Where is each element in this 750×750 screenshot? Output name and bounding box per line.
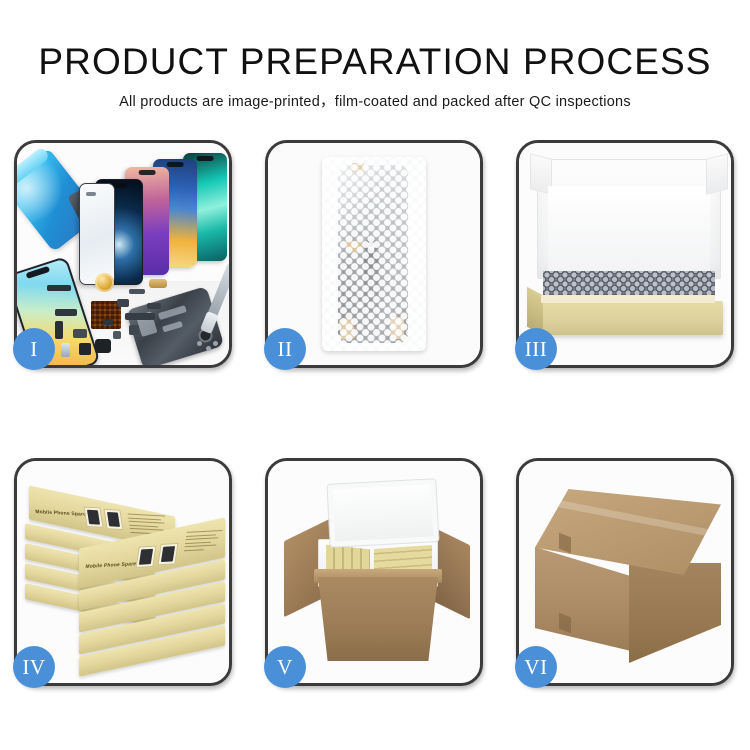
spare-part	[95, 339, 111, 353]
label-phone-image	[84, 507, 104, 528]
bubble-wrap-texture	[322, 157, 426, 351]
spare-part	[125, 313, 155, 320]
film-curl	[17, 146, 51, 190]
spare-part	[79, 343, 91, 355]
spare-part	[129, 289, 145, 294]
step-2-badge: II	[264, 328, 306, 370]
screws-group	[197, 341, 219, 355]
gold-coil-part	[95, 273, 114, 292]
spare-part	[73, 329, 87, 338]
step-6-badge: VI	[515, 646, 557, 688]
spare-part	[147, 303, 161, 309]
tempered-glass-protector	[79, 183, 115, 285]
housing-detail	[158, 305, 187, 320]
foam-lid	[326, 478, 439, 548]
page-title: PRODUCT PREPARATION PROCESS	[0, 0, 750, 82]
carton-face-left	[535, 547, 631, 651]
label-phone-image	[157, 543, 178, 565]
page-subtitle: All products are image-printed，film-coat…	[0, 82, 750, 111]
product-preparation-infographic: PRODUCT PREPARATION PROCESS All products…	[0, 0, 750, 750]
carton-body	[318, 577, 438, 661]
notch-icon	[26, 266, 51, 279]
spare-part	[113, 331, 121, 339]
step-5-badge: V	[264, 646, 306, 688]
spare-part	[61, 343, 70, 357]
spare-part	[129, 325, 139, 335]
step-3-badge: III	[515, 328, 557, 370]
tray-inner-edge	[541, 295, 715, 303]
step-panel-printed-box-stack[interactable]: Mobile Phone Spare Parts Mobile Phone Sp…	[14, 458, 232, 686]
notch-icon	[197, 156, 214, 161]
notch-icon	[167, 162, 184, 167]
step-3-photo	[519, 143, 731, 365]
spare-part	[55, 309, 77, 316]
label-spec-lines	[184, 530, 223, 553]
white-box-lid	[537, 159, 721, 279]
yellow-box-tray	[533, 301, 723, 335]
label-phone-image	[104, 509, 124, 530]
step-4-photo: Mobile Phone Spare Parts Mobile Phone Sp…	[17, 461, 229, 683]
spare-part	[117, 299, 129, 307]
phone-screen-fan	[77, 153, 227, 281]
step-panel-inner-box-with-foam[interactable]: III	[516, 140, 734, 368]
carton-face-right	[629, 563, 721, 663]
notch-icon	[139, 170, 156, 175]
spare-part	[47, 285, 71, 291]
step-4-badge: IV	[13, 646, 55, 688]
step-1-badge: I	[13, 328, 55, 370]
spare-part	[149, 279, 167, 288]
export-carton-open	[284, 485, 470, 665]
step-panel-carton-with-foam-liner[interactable]: V	[265, 458, 483, 686]
label-phone-image	[135, 546, 156, 568]
sealed-carton	[535, 489, 721, 661]
step-1-photo	[17, 143, 229, 365]
step-5-photo	[268, 461, 480, 683]
step-2-photo	[268, 143, 480, 365]
spare-part	[103, 319, 113, 325]
header: PRODUCT PREPARATION PROCESS All products…	[0, 0, 750, 111]
bubble-wrap-bag	[322, 157, 426, 351]
spare-part	[55, 321, 63, 339]
step-panel-sealed-carton[interactable]: VI	[516, 458, 734, 686]
process-steps-grid: I II	[14, 140, 736, 686]
housing-detail	[162, 321, 183, 333]
step-panel-bubble-wrapped-part[interactable]: II	[265, 140, 483, 368]
lid-face	[548, 186, 710, 274]
box-stack: Mobile Phone Spare Parts Mobile Phone Sp…	[23, 475, 229, 675]
step-panel-products-and-parts[interactable]: I	[14, 140, 232, 368]
step-6-photo	[519, 461, 731, 683]
